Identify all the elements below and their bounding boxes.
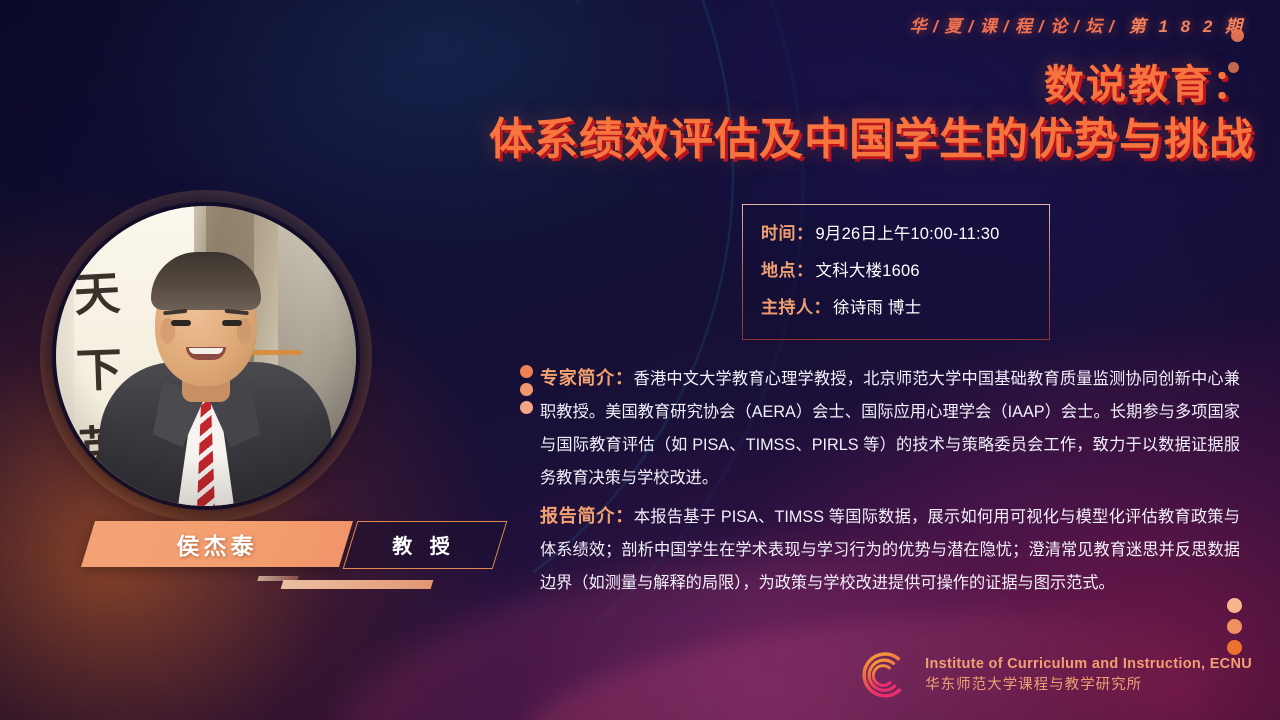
footer-org-cn: 华东师范大学课程与教学研究所 [925,675,1252,696]
info-value-location: 文科大楼1606 [816,257,920,281]
info-label-time: 时间： [761,219,814,244]
speaker-title: 教 授 [350,521,498,567]
speaker-name: 侯杰泰 [88,521,346,567]
banner-decor-strip [257,576,299,581]
speaker-bio-paragraph: 专家简介：香港中文大学教育心理学教授，北京师范大学中国基础教育质量监测协同创新中… [540,362,1240,495]
footer-org-en: Institute of Curriculum and Instruction,… [925,654,1252,675]
bio-text: 香港中文大学教育心理学教授，北京师范大学中国基础教育质量监测协同创新中心兼职教授… [540,370,1240,487]
forum-series-label: 华 / 夏 / 课 / 程 / 论 / 坛 /第 1 8 2 期 [909,12,1246,37]
series-name: 华 / 夏 / 课 / 程 / 论 / 坛 / [909,17,1114,36]
ecnu-ici-logo-icon [853,646,911,704]
title-line-2: 体系绩效评估及中国学生的优势与挑战 [374,114,1254,167]
footer-org-text: Institute of Curriculum and Instruction,… [925,654,1252,696]
info-label-location: 地点： [761,256,814,281]
info-row-location: 地点： 文科大楼1606 [761,256,1049,281]
decor-dot-icon [1227,598,1242,613]
event-info-box: 时间： 9月26日上午10:00-11:30 地点： 文科大楼1606 主持人：… [742,204,1050,340]
bullet-dot-icon [520,401,533,414]
abstract-text: 本报告基于 PISA、TIMSS 等国际数据，展示如何用可视化与模型化评估教育政… [540,508,1240,592]
talk-abstract-paragraph: 报告简介：本报告基于 PISA、TIMSS 等国际数据，展示如何用可视化与模型化… [540,500,1240,600]
info-row-time: 时间： 9月26日上午10:00-11:30 [761,219,1049,244]
info-value-time: 9月26日上午10:00-11:30 [816,220,1000,244]
info-label-host: 主持人： [761,293,831,318]
forum-poster: 华 / 夏 / 课 / 程 / 论 / 坛 /第 1 8 2 期 数说教育： 体… [0,0,1280,720]
footer-branding: Institute of Curriculum and Instruction,… [853,646,1252,704]
bullet-dot-icon [520,383,533,396]
banner-decor-strip [281,580,434,589]
abstract-lead-label: 报告简介： [540,506,634,526]
info-row-host: 主持人： 徐诗雨 博士 [761,293,1049,318]
decor-dot-icon [1231,29,1244,42]
speaker-portrait: 天 下 英 [56,206,356,506]
portrait-shading [56,206,356,506]
title-line-1: 数说教育： [374,62,1254,108]
info-value-host: 徐诗雨 博士 [833,294,921,318]
speaker-name-banner: 侯杰泰 教 授 [88,521,498,567]
series-issue: 第 1 8 2 期 [1129,17,1246,36]
page-title: 数说教育： 体系绩效评估及中国学生的优势与挑战 [374,62,1254,167]
decor-dot-icon [1227,619,1242,634]
bullet-dot-stack [520,365,533,414]
bio-lead-label: 专家简介： [540,368,634,388]
bullet-dot-icon [520,365,533,378]
